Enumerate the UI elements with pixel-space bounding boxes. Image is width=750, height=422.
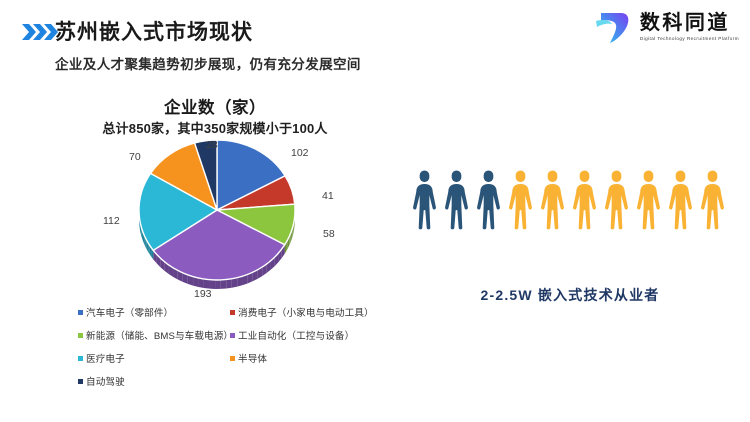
pie-chart-svg — [133, 138, 301, 298]
legend-item-semiconductor: 半导体 — [230, 354, 400, 365]
legend-row: 医疗电子 半导体 — [78, 354, 400, 377]
pie-label-value: 58 — [323, 228, 335, 240]
legend-item-autonomous-driving: 自动驾驶 — [78, 377, 230, 388]
workforce-pictogram-panel: 2-2.5W 嵌入式技术从业者 — [400, 150, 740, 320]
legend-row: 自动驾驶 — [78, 377, 400, 400]
legend-label: 新能源（储能、BMS与车载电源） — [86, 331, 233, 342]
legend-label: 医疗电子 — [86, 354, 125, 365]
legend-label: 工业自动化（工控与设备） — [238, 331, 354, 342]
brand-tagline: Digital Technology Recruitment Platform — [640, 37, 739, 42]
workforce-caption: 2-2.5W 嵌入式技术从业者 — [400, 285, 740, 305]
pie-label-value: 70 — [129, 151, 141, 163]
legend-swatch — [230, 310, 235, 315]
legend-swatch — [78, 356, 83, 361]
legend-item-auto-electronics: 汽车电子（零部件） — [78, 308, 230, 319]
brand-wave-mark-icon — [594, 7, 634, 47]
person-icon — [538, 168, 567, 231]
legend-label: 半导体 — [238, 354, 267, 365]
person-icon — [442, 168, 471, 231]
pie-label-value: 112 — [103, 215, 120, 227]
chart-title: 企业数（家） — [30, 94, 400, 118]
legend-item-consumer-electronics: 消费电子（小家电与电动工具） — [230, 308, 400, 319]
legend-swatch — [230, 333, 235, 338]
brand-name: 数科同道 — [640, 13, 739, 33]
legend-label: 汽车电子（零部件） — [86, 308, 173, 319]
person-icon — [634, 168, 663, 231]
legend-label: 自动驾驶 — [86, 377, 125, 388]
legend-item-new-energy: 新能源（储能、BMS与车载电源） — [78, 331, 230, 342]
chart-subtitle: 总计850家，其中350家规模小于100人 — [30, 118, 400, 137]
chart-legend: 汽车电子（零部件） 消费电子（小家电与电动工具） 新能源（储能、BMS与车载电源… — [78, 308, 400, 400]
person-icon — [570, 168, 599, 231]
page-title: 苏州嵌入式市场现状 — [55, 16, 253, 46]
slide-root: 苏州嵌入式市场现状 企业及人才聚集趋势初步展现，仍有充分发展空间 — [0, 0, 750, 422]
pie-label-value: 102 — [291, 147, 309, 159]
legend-item-industrial-automation: 工业自动化（工控与设备） — [230, 331, 400, 342]
pie-label-value: 28 — [206, 139, 218, 151]
pie-chart: 28 102 41 58 193 112 70 — [30, 138, 400, 308]
page-subtitle: 企业及人才聚集趋势初步展现，仍有充分发展空间 — [55, 53, 361, 73]
legend-swatch — [230, 356, 235, 361]
legend-label: 消费电子（小家电与电动工具） — [238, 308, 374, 319]
person-icon — [602, 168, 631, 231]
brand-logo: 数科同道 Digital Technology Recruitment Plat… — [594, 7, 739, 47]
person-icon — [666, 168, 695, 231]
person-icon — [410, 168, 439, 231]
pie-label-value: 41 — [322, 190, 334, 202]
person-icon — [506, 168, 535, 231]
legend-row: 汽车电子（零部件） 消费电子（小家电与电动工具） — [78, 308, 400, 331]
person-icon-row — [410, 168, 727, 231]
slide-header: 苏州嵌入式市场现状 企业及人才聚集趋势初步展现，仍有充分发展空间 — [0, 0, 750, 88]
legend-swatch — [78, 379, 83, 384]
legend-item-medical-electronics: 医疗电子 — [78, 354, 230, 365]
pie-label-value: 193 — [194, 288, 212, 300]
legend-swatch — [78, 333, 83, 338]
legend-row: 新能源（储能、BMS与车载电源） 工业自动化（工控与设备） — [78, 331, 400, 354]
enterprise-count-chart-panel: 企业数（家） 总计850家，其中350家规模小于100人 28 102 41 5… — [30, 90, 400, 410]
legend-swatch — [78, 310, 83, 315]
person-icon — [474, 168, 503, 231]
person-icon — [698, 168, 727, 231]
